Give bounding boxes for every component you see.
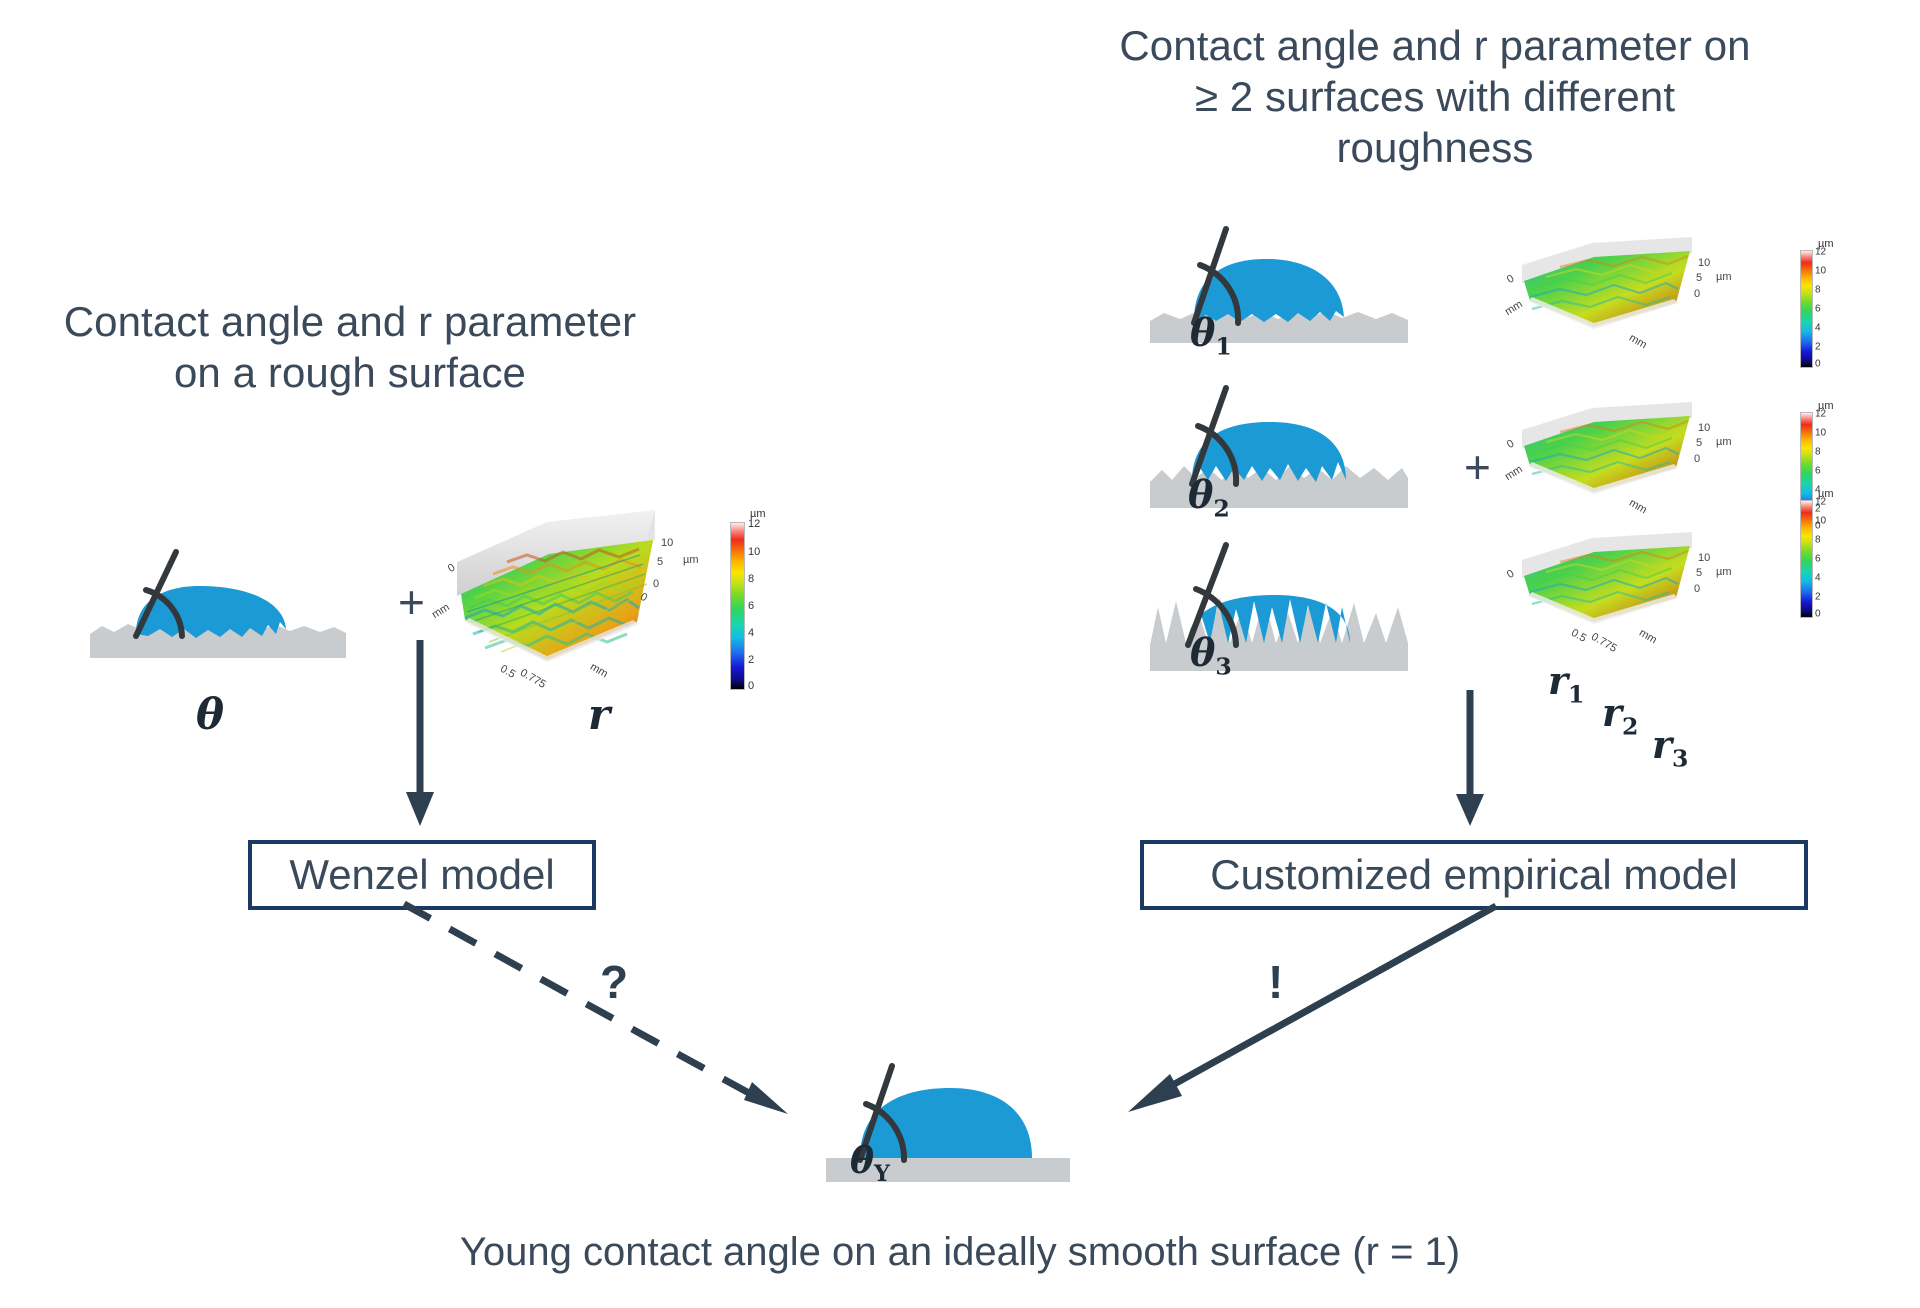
r1-sub: 1 bbox=[1568, 681, 1584, 709]
cb2-10: 10 bbox=[1815, 428, 1826, 439]
r1-z-tick-10: 10 bbox=[1698, 257, 1710, 269]
right-theta-3-label: θ3 bbox=[1190, 630, 1232, 681]
r2-sub: 2 bbox=[1622, 713, 1638, 741]
theta-1-sub: 1 bbox=[1215, 333, 1231, 361]
x-axis-label: mm bbox=[430, 601, 452, 621]
right-surface-plot-1: 10 5 0 µm 0 mm mm bbox=[1520, 235, 1760, 345]
cb2-6: 6 bbox=[1815, 466, 1821, 477]
r3-sub: 3 bbox=[1672, 745, 1688, 773]
cb3-6: 6 bbox=[1815, 554, 1821, 565]
r1-z-tick-0: 0 bbox=[1694, 288, 1700, 300]
cb3-0: 0 bbox=[1815, 609, 1821, 620]
left-dashed-arrow bbox=[400, 900, 800, 1130]
r1-x-tick-0: 0 bbox=[1505, 273, 1517, 286]
cb3-10: 10 bbox=[1815, 516, 1826, 527]
cb-tick-12: 12 bbox=[748, 518, 760, 530]
r2-z-tick-0: 0 bbox=[1694, 453, 1700, 465]
customized-empirical-model-label: Customized empirical model bbox=[1210, 851, 1738, 899]
r3-z-tick-5: 5 bbox=[1696, 567, 1702, 579]
left-colorbar: µm 12 10 8 6 4 2 0 bbox=[730, 522, 780, 692]
theta-1-base: θ bbox=[1190, 310, 1215, 355]
cb1-8: 8 bbox=[1815, 285, 1821, 296]
r3-z-tick-10: 10 bbox=[1698, 552, 1710, 564]
bottom-caption: Young contact angle on an ideally smooth… bbox=[0, 1230, 1920, 1275]
droplet-svg bbox=[90, 530, 350, 660]
colorbar-3-gradient bbox=[1800, 500, 1813, 618]
left-down-arrow bbox=[400, 640, 440, 830]
cb1-6: 6 bbox=[1815, 304, 1821, 315]
cb-tick-8: 8 bbox=[748, 573, 754, 585]
right-heading-line-3: roughness bbox=[1070, 122, 1800, 173]
r2-x-tick-0: 0 bbox=[1505, 438, 1517, 451]
right-surface-plot-3: 10 5 0 µm 0 0.5 0.775 mm bbox=[1520, 530, 1760, 640]
wenzel-model-label: Wenzel model bbox=[289, 851, 554, 899]
right-colorbar-1: µm 12 10 8 6 4 2 0 bbox=[1800, 250, 1846, 370]
r2-base: r bbox=[1602, 690, 1622, 735]
cb1-2: 2 bbox=[1815, 342, 1821, 353]
right-heading-line-1: Contact angle and r parameter on bbox=[1070, 20, 1800, 71]
cb-tick-4: 4 bbox=[748, 627, 754, 639]
left-heading-line-2: on a rough surface bbox=[60, 347, 640, 398]
right-r2-label: r2 bbox=[1602, 690, 1638, 741]
cb2-8: 8 bbox=[1815, 447, 1821, 458]
right-droplet-3-illustration bbox=[1150, 535, 1410, 675]
colorbar-gradient bbox=[730, 522, 745, 690]
right-surface-plot-2: 10 5 0 µm 0 mm mm bbox=[1520, 400, 1760, 510]
right-r1-label: r1 bbox=[1548, 658, 1584, 709]
theta-symbol: θ bbox=[196, 690, 224, 739]
left-plus-sign: + bbox=[398, 575, 425, 629]
cb3-4: 4 bbox=[1815, 573, 1821, 584]
theta-3-sub: 3 bbox=[1215, 653, 1231, 681]
cb-tick-10: 10 bbox=[748, 546, 760, 558]
cb3-2: 2 bbox=[1815, 592, 1821, 603]
r3-z-unit: µm bbox=[1716, 566, 1732, 578]
cb1-10: 10 bbox=[1815, 266, 1826, 277]
z-axis-unit: µm bbox=[683, 554, 699, 566]
r1-base: r bbox=[1548, 658, 1568, 703]
colorbar-1-gradient bbox=[1800, 250, 1813, 368]
r2-z-tick-10: 10 bbox=[1698, 422, 1710, 434]
cb2-12: 12 bbox=[1815, 409, 1826, 420]
r3-z-tick-0: 0 bbox=[1694, 583, 1700, 595]
theta-2-sub: 2 bbox=[1213, 495, 1229, 523]
r3-x-tick-0: 0 bbox=[1505, 568, 1517, 581]
left-theta-label: θ bbox=[196, 690, 224, 739]
left-r-label: r bbox=[588, 690, 610, 739]
r3-base: r bbox=[1652, 722, 1672, 767]
cb1-12: 12 bbox=[1815, 247, 1826, 258]
right-branch-heading: Contact angle and r parameter on ≥ 2 sur… bbox=[1070, 20, 1800, 174]
z-tick-5: 5 bbox=[657, 556, 663, 568]
theta-y-sub: Y bbox=[874, 1161, 890, 1187]
result-theta-y-label: θY bbox=[850, 1140, 890, 1187]
r1-z-tick-5: 5 bbox=[1696, 272, 1702, 284]
right-theta-1-label: θ1 bbox=[1190, 310, 1232, 361]
right-colorbar-3: µm 12 10 8 6 4 2 0 bbox=[1800, 500, 1846, 620]
left-heading-line-1: Contact angle and r parameter bbox=[60, 296, 640, 347]
cb-tick-2: 2 bbox=[748, 654, 754, 666]
cb3-12: 12 bbox=[1815, 497, 1826, 508]
left-droplet-illustration bbox=[90, 530, 350, 660]
z-tick-10: 10 bbox=[661, 537, 673, 549]
right-heading-line-2: ≥ 2 surfaces with different bbox=[1070, 71, 1800, 122]
right-plus-sign: + bbox=[1464, 440, 1491, 494]
r1-z-unit: µm bbox=[1716, 271, 1732, 283]
right-r3-label: r3 bbox=[1652, 722, 1688, 773]
right-solid-arrow bbox=[1110, 900, 1510, 1130]
r2-z-unit: µm bbox=[1716, 436, 1732, 448]
cb3-8: 8 bbox=[1815, 535, 1821, 546]
theta-y-base: θ bbox=[850, 1140, 874, 1182]
r2-z-tick-5: 5 bbox=[1696, 437, 1702, 449]
theta-3-base: θ bbox=[1190, 630, 1215, 675]
r-symbol: r bbox=[588, 690, 610, 739]
right-down-arrow bbox=[1450, 690, 1490, 830]
right-droplet-1-illustration bbox=[1150, 215, 1410, 345]
cb-tick-6: 6 bbox=[748, 600, 754, 612]
cb-tick-0: 0 bbox=[748, 680, 754, 692]
left-branch-heading: Contact angle and r parameter on a rough… bbox=[60, 296, 640, 398]
z-tick-0: 0 bbox=[653, 578, 659, 590]
left-arrow-question-mark: ? bbox=[600, 955, 628, 1009]
surface-plot-svg bbox=[455, 500, 755, 710]
right-arrow-exclamation-mark: ! bbox=[1268, 955, 1283, 1009]
left-surface-plot: 10 5 0 µm 0 0 mm mm 0.5 0.775 bbox=[455, 500, 755, 710]
cb1-0: 0 bbox=[1815, 359, 1821, 370]
theta-2-base: θ bbox=[1188, 472, 1213, 517]
right-theta-2-label: θ2 bbox=[1188, 472, 1230, 523]
cb1-4: 4 bbox=[1815, 323, 1821, 334]
